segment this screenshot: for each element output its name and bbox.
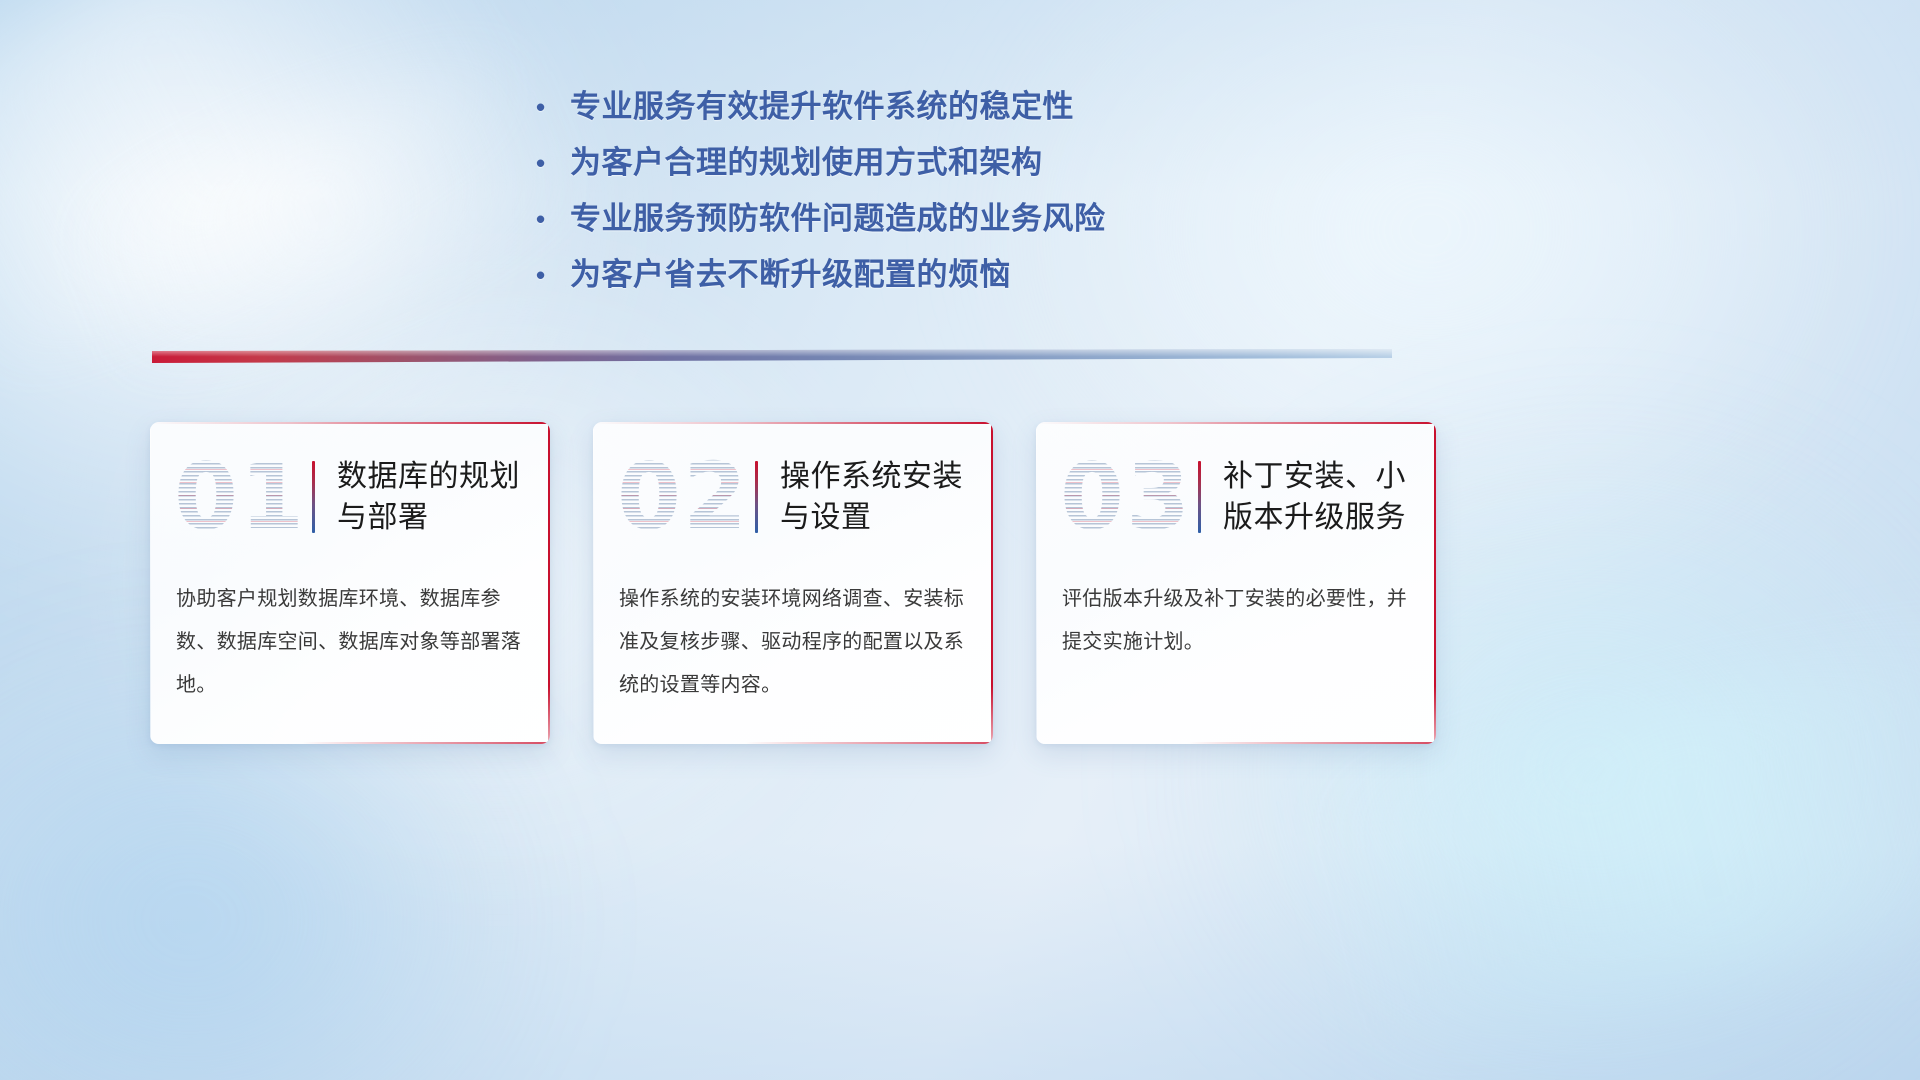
card-header: 02 02 操作系统安装与设置 [593, 422, 993, 572]
card-number-red-overlay: 02 [615, 443, 751, 551]
bullet-dot-icon: • [536, 200, 570, 238]
bullet-list: • 专业服务有效提升软件系统的稳定性 • 为客户合理的规划使用方式和架构 • 专… [536, 88, 1436, 312]
card-accent-bottom [1188, 742, 1436, 744]
divider-gloss [152, 349, 1392, 363]
bullet-text: 专业服务有效提升软件系统的稳定性 [570, 88, 1436, 126]
card-title-divider [1198, 461, 1201, 533]
card-body-text: 操作系统的安装环境网络调查、安装标准及复核步骤、驱动程序的配置以及系统的设置等内… [593, 572, 993, 707]
bullet-item: • 专业服务预防软件问题造成的业务风险 [536, 200, 1436, 238]
section-divider [152, 349, 1392, 363]
bullet-item: • 为客户省去不断升级配置的烦恼 [536, 256, 1436, 294]
bullet-text: 为客户合理的规划使用方式和架构 [570, 144, 1436, 182]
feature-card-list: 01 01 数据库的规划与部署 协助客户规划数据库环境、数据库参数、数据库空间、… [150, 422, 1770, 744]
bullet-text: 专业服务预防软件问题造成的业务风险 [570, 200, 1436, 238]
bullet-dot-icon: • [536, 88, 570, 126]
card-number-wrap: 02 02 [615, 443, 751, 551]
card-title: 补丁安装、小版本升级服务 [1223, 456, 1436, 538]
feature-card[interactable]: 03 03 补丁安装、小版本升级服务 评估版本升级及补丁安装的必要性，并提交实施… [1036, 422, 1436, 744]
card-accent-bottom [302, 742, 550, 744]
bullet-text: 为客户省去不断升级配置的烦恼 [570, 256, 1436, 294]
bullet-item: • 为客户合理的规划使用方式和架构 [536, 144, 1436, 182]
card-body-text: 评估版本升级及补丁安装的必要性，并提交实施计划。 [1036, 572, 1436, 664]
card-title: 数据库的规划与部署 [337, 456, 550, 538]
card-number-wrap: 01 01 [172, 443, 308, 551]
card-title: 操作系统安装与设置 [780, 456, 993, 538]
card-body-text: 协助客户规划数据库环境、数据库参数、数据库空间、数据库对象等部署落地。 [150, 572, 550, 707]
card-title-divider [755, 461, 758, 533]
feature-card[interactable]: 02 02 操作系统安装与设置 操作系统的安装环境网络调查、安装标准及复核步骤、… [593, 422, 993, 744]
card-accent-bottom [745, 742, 993, 744]
bullet-dot-icon: • [536, 256, 570, 294]
card-number-wrap: 03 03 [1058, 443, 1194, 551]
card-title-divider [312, 461, 315, 533]
bullet-item: • 专业服务有效提升软件系统的稳定性 [536, 88, 1436, 126]
card-number-red-overlay: 01 [172, 443, 308, 551]
bullet-dot-icon: • [536, 144, 570, 182]
card-header: 03 03 补丁安装、小版本升级服务 [1036, 422, 1436, 572]
feature-card[interactable]: 01 01 数据库的规划与部署 协助客户规划数据库环境、数据库参数、数据库空间、… [150, 422, 550, 744]
card-header: 01 01 数据库的规划与部署 [150, 422, 550, 572]
card-number-red-overlay: 03 [1058, 443, 1194, 551]
